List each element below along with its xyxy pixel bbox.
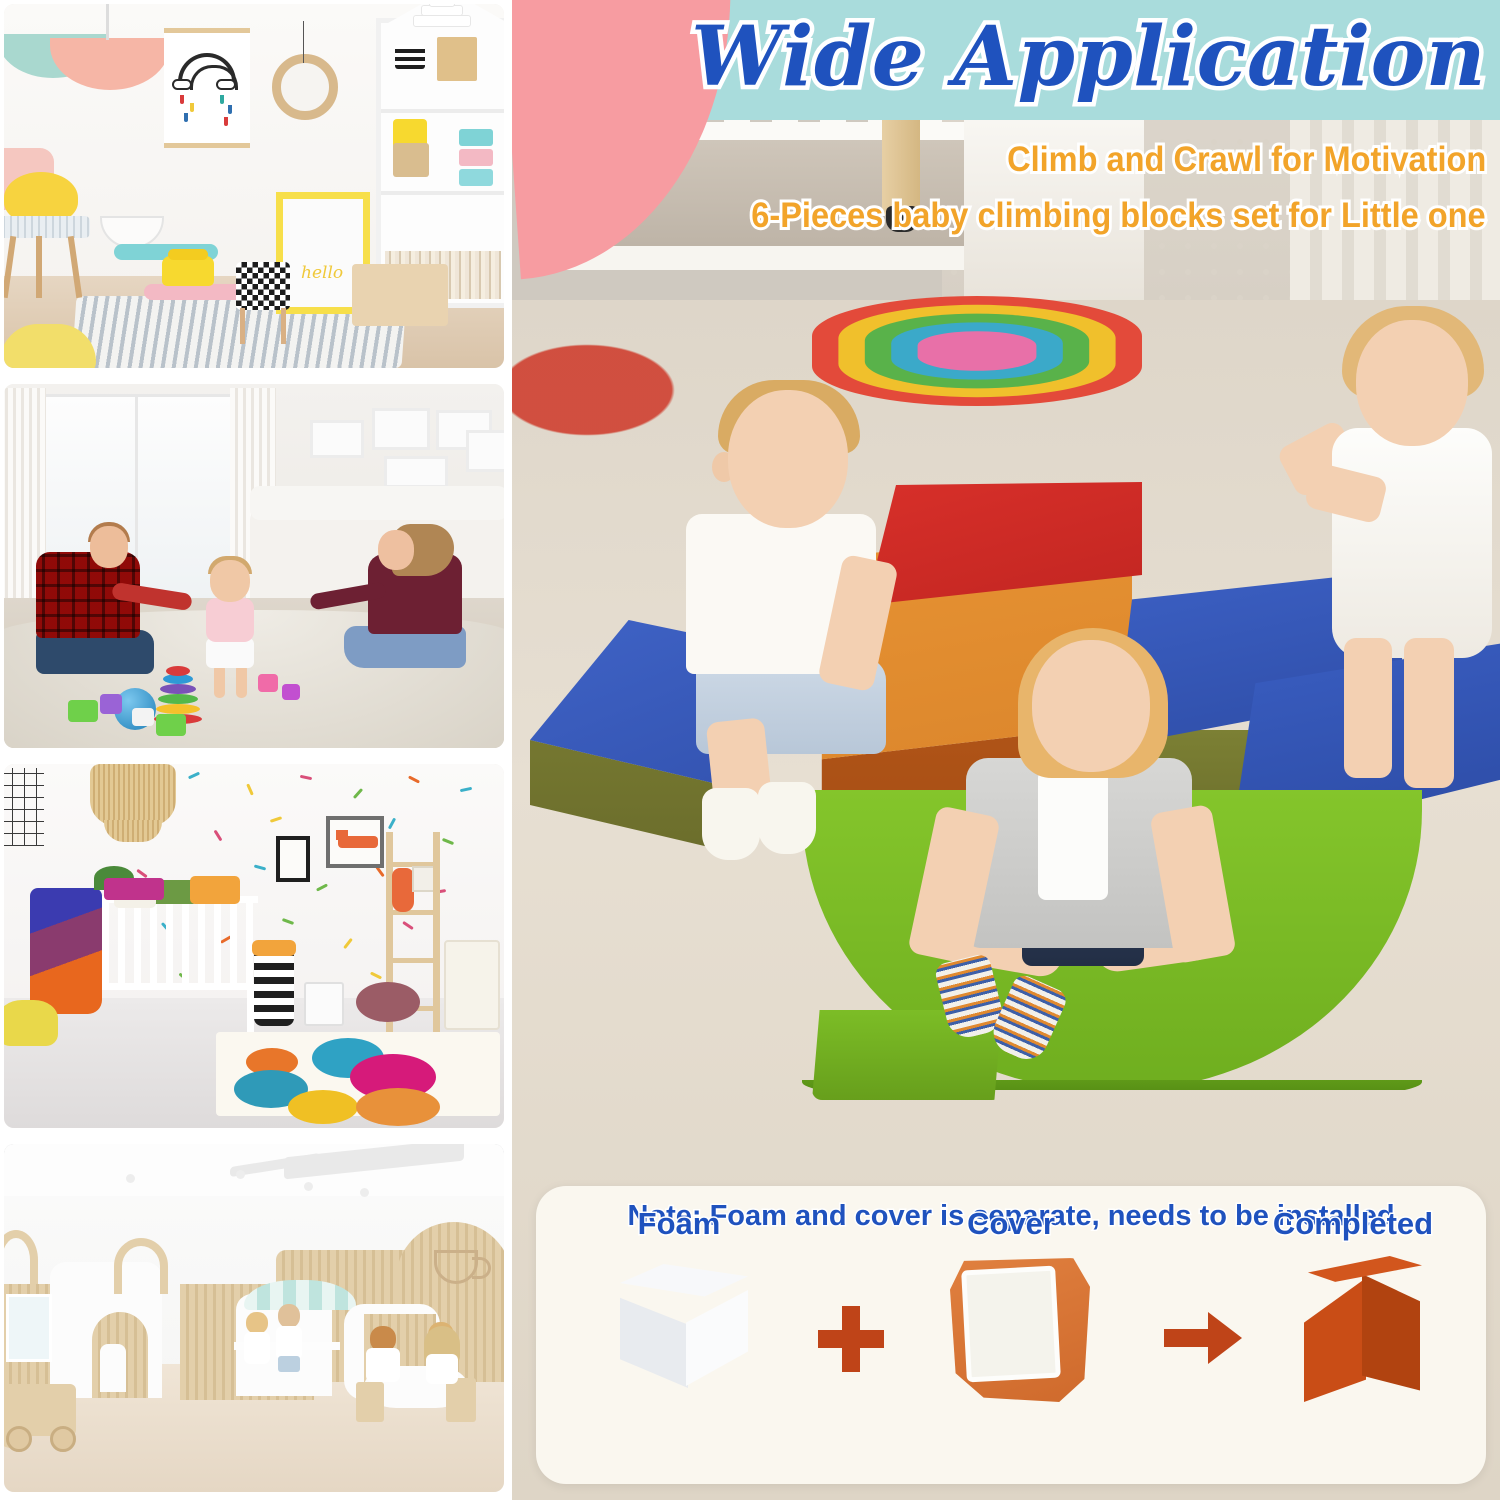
child-standing-right	[1292, 320, 1500, 790]
wire-memo-grid	[4, 768, 44, 846]
lifestyle-photo-pastel-playroom: hello	[0, 0, 508, 372]
rainbow-poster	[164, 28, 250, 148]
patterned-stool	[236, 262, 290, 310]
page-title: Wide Application	[512, 16, 1486, 98]
lifestyle-photo-confetti-nursery	[0, 760, 508, 1132]
rattan-pendant-lamp	[90, 764, 176, 826]
round-pouf	[356, 982, 420, 1022]
plus-icon	[818, 1306, 884, 1372]
father-figure	[36, 526, 168, 686]
kids-chair	[4, 176, 90, 302]
lifestyle-photo-column: hello	[0, 0, 512, 1500]
cover-bag-icon	[950, 1258, 1090, 1402]
child-at-table-girl	[422, 1322, 462, 1384]
headline-banner: Wide Application Climb and Crawl for Mot…	[512, 0, 1500, 270]
child-at-shop-1	[244, 1312, 270, 1364]
subtitle-line2: 6-Pieces baby climbing blocks set for Li…	[752, 196, 1486, 236]
child-at-table-boy	[366, 1326, 400, 1382]
foam-label: Foam	[574, 1206, 784, 1242]
mother-figure	[334, 530, 482, 686]
hero-product-scene: Wide Application Climb and Crawl for Mot…	[512, 0, 1500, 1500]
lifestyle-photo-family-living-room	[0, 380, 508, 752]
storage-basket	[254, 952, 294, 1026]
retro-telephone	[162, 256, 214, 286]
round-wall-mirror	[272, 54, 338, 120]
assembly-note-panel: Note: Foam and cover is separate, needs …	[536, 1186, 1486, 1484]
circles-rug	[216, 1032, 500, 1116]
lifestyle-photo-daycare-playroom	[0, 1140, 508, 1496]
completed-label: Completed	[1248, 1206, 1458, 1242]
fox-art-frame	[326, 816, 384, 868]
subtitle-line1: Climb and Crawl for Motivation	[1007, 140, 1486, 180]
child-at-shop-2	[276, 1304, 302, 1374]
child-sitting-center	[912, 640, 1262, 1060]
completed-block-icon	[1298, 1256, 1422, 1404]
toddler-figure	[200, 560, 262, 690]
cover-label: Cover	[906, 1206, 1116, 1242]
arrow-icon	[1164, 1312, 1242, 1364]
product-infographic: hello	[0, 0, 1500, 1500]
wooden-toy-crate	[352, 264, 448, 326]
toy-amplifier	[304, 982, 344, 1026]
baby-crib	[38, 896, 258, 1032]
foam-cube-icon	[620, 1264, 748, 1392]
fern-art-frame	[276, 836, 310, 882]
